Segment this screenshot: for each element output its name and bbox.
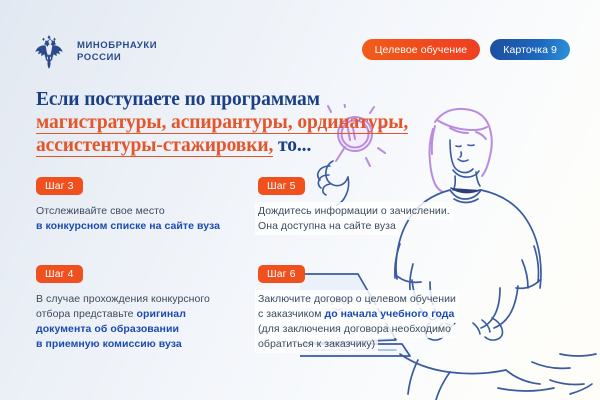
step-4-line-1: В случае прохождения конкурсного: [36, 293, 210, 305]
step-6-line-2-plain: с заказчиком: [258, 308, 325, 320]
step-3-line-1: Отслеживайте свое место: [36, 205, 165, 217]
ministry-brand: МИНОБРНАУКИ РОССИИ: [32, 32, 157, 72]
step-item-4: Шаг 4 В случае прохождения конкурсного о…: [36, 264, 210, 352]
step-text-5: Дождитесь информации о зачислении. Она д…: [258, 204, 450, 234]
step-text-3: Отслеживайте свое место в конкурсном спи…: [36, 204, 220, 234]
step-text-6: Заключите договор о целевом обучении с з…: [258, 292, 456, 352]
title-line-3-tail: то...: [273, 135, 311, 156]
step-badge-3: Шаг 3: [36, 177, 83, 195]
step-6-line-2-bold: до начала учебного года: [325, 308, 455, 320]
step-4-line-2-bold: оригинал: [137, 308, 186, 320]
title-line-2: магистратуры, аспирантуры, ординатуры,: [36, 112, 408, 134]
step-5-line-1: Дождитесь информации о зачислении.: [258, 205, 450, 217]
page-title: Если поступаете по программам магистрату…: [36, 88, 476, 157]
step-badge-6: Шаг 6: [258, 265, 305, 283]
card-header: МИНОБРНАУКИ РОССИИ Целевое обучение Карт…: [0, 0, 600, 86]
step-5-line-2: Она доступна на сайте вуза: [258, 220, 396, 232]
step-4-line-4: в приемную комиссию вуза: [36, 338, 182, 350]
step-badge-4: Шаг 4: [36, 265, 83, 283]
step-6-line-3: (для заключения договора необходимо: [258, 323, 451, 335]
step-3-line-2: в конкурсном списке на сайте вуза: [36, 220, 220, 232]
step-item-3: Шаг 3 Отслеживайте свое место в конкурсн…: [36, 176, 220, 234]
title-line-3: ассистентуры-стажировки,: [36, 135, 273, 157]
title-line-1: Если поступаете по программам: [36, 88, 476, 111]
russian-coat-of-arms-icon: [32, 32, 66, 72]
step-6-line-1: Заключите договор о целевом обучении: [258, 293, 456, 305]
header-badges: Целевое обучение Карточка 9: [362, 39, 570, 60]
step-4-line-2-plain: отбора представьте: [36, 308, 137, 320]
step-4-line-3: документа об образовании: [36, 323, 179, 335]
step-item-6: Шаг 6 Заключите договор о целевом обучен…: [258, 264, 456, 352]
step-6-line-4: обратиться к заказчику): [258, 338, 375, 350]
infographic-card: МИНОБРНАУКИ РОССИИ Целевое обучение Карт…: [0, 0, 600, 400]
ministry-name: МИНОБРНАУКИ РОССИИ: [77, 40, 157, 65]
badge-card-number[interactable]: Карточка 9: [490, 39, 570, 60]
badge-program[interactable]: Целевое обучение: [362, 39, 481, 60]
step-text-4: В случае прохождения конкурсного отбора …: [36, 292, 210, 352]
step-badge-5: Шаг 5: [258, 177, 305, 195]
step-item-5: Шаг 5 Дождитесь информации о зачислении.…: [258, 176, 450, 234]
